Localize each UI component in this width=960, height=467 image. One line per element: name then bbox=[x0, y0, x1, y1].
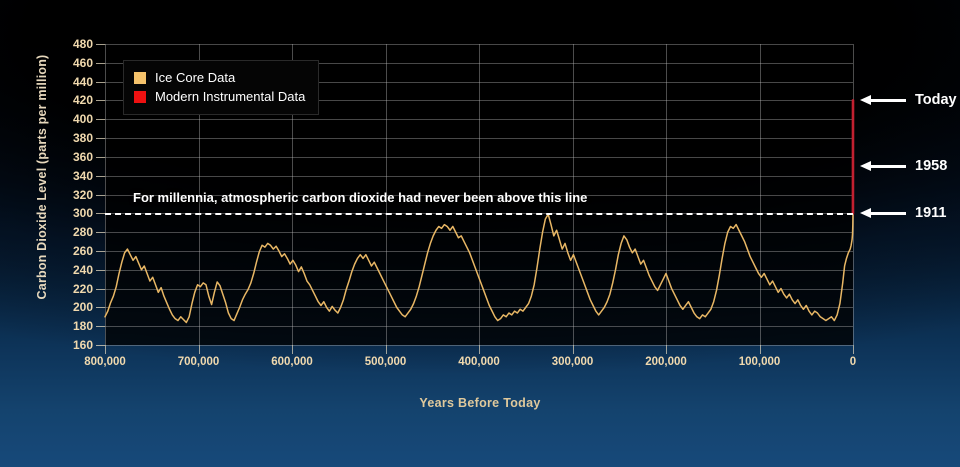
threshold-annotation-text: For millennia, atmospheric carbon dioxid… bbox=[133, 190, 587, 205]
y-tick-480: 480 bbox=[47, 37, 93, 51]
x-tickmark-3 bbox=[386, 345, 387, 354]
y-tickmark-200 bbox=[96, 307, 105, 308]
y-tickmark-160 bbox=[96, 345, 105, 346]
y-tick-200: 200 bbox=[47, 300, 93, 314]
y-tick-340: 340 bbox=[47, 169, 93, 183]
x-tickmark-8 bbox=[853, 345, 854, 354]
y-tickmark-320 bbox=[96, 195, 105, 196]
x-tick-5: 300,000 bbox=[552, 356, 594, 368]
x-tickmark-4 bbox=[479, 345, 480, 354]
y-tickmark-260 bbox=[96, 251, 105, 252]
y-tickmark-440 bbox=[96, 82, 105, 83]
y-tickmark-220 bbox=[96, 289, 105, 290]
x-tick-6: 200,000 bbox=[645, 356, 687, 368]
y-axis-tick-labels: 4804604404204003803603403203002802602402… bbox=[47, 0, 93, 467]
y-tick-360: 360 bbox=[47, 150, 93, 164]
callout-label-2: 1911 bbox=[915, 205, 946, 221]
x-axis-title: Years Before Today bbox=[0, 396, 960, 410]
arrow-left-icon-1 bbox=[860, 161, 906, 171]
y-tick-380: 380 bbox=[47, 131, 93, 145]
x-tickmark-7 bbox=[760, 345, 761, 354]
legend-swatch-icon-1 bbox=[134, 91, 146, 103]
x-tick-2: 600,000 bbox=[271, 356, 313, 368]
y-tick-440: 440 bbox=[47, 75, 93, 89]
y-tickmark-380 bbox=[96, 138, 105, 139]
callout-label-0: Today bbox=[915, 92, 957, 108]
x-tickmark-2 bbox=[292, 345, 293, 354]
x-tick-0: 800,000 bbox=[84, 356, 126, 368]
x-tickmark-5 bbox=[573, 345, 574, 354]
legend-swatch-icon-0 bbox=[134, 72, 146, 84]
callout-1958: 1958 bbox=[860, 158, 947, 174]
y-tick-260: 260 bbox=[47, 244, 93, 258]
threshold-line bbox=[105, 213, 853, 215]
x-tick-4: 400,000 bbox=[458, 356, 500, 368]
legend-label-0: Ice Core Data bbox=[155, 70, 235, 85]
chart-canvas: Carbon Dioxide Level (parts per million)… bbox=[0, 0, 960, 467]
y-tick-280: 280 bbox=[47, 225, 93, 239]
y-tickmark-400 bbox=[96, 119, 105, 120]
x-tick-7: 100,000 bbox=[739, 356, 781, 368]
y-tick-240: 240 bbox=[47, 263, 93, 277]
legend-item-0: Ice Core Data bbox=[134, 68, 305, 87]
y-tick-220: 220 bbox=[47, 282, 93, 296]
y-tick-400: 400 bbox=[47, 112, 93, 126]
callout-label-1: 1958 bbox=[915, 158, 947, 174]
callout-today: Today bbox=[860, 92, 957, 108]
x-tickmark-1 bbox=[199, 345, 200, 354]
y-tickmark-180 bbox=[96, 326, 105, 327]
y-tick-300: 300 bbox=[47, 206, 93, 220]
x-tick-8: 0 bbox=[850, 356, 856, 368]
legend-label-1: Modern Instrumental Data bbox=[155, 89, 305, 104]
y-tickmark-420 bbox=[96, 100, 105, 101]
y-tick-320: 320 bbox=[47, 188, 93, 202]
x-tick-3: 500,000 bbox=[365, 356, 407, 368]
y-tick-420: 420 bbox=[47, 93, 93, 107]
y-tickmark-280 bbox=[96, 232, 105, 233]
x-tick-1: 700,000 bbox=[178, 356, 220, 368]
y-tickmark-480 bbox=[96, 44, 105, 45]
y-tick-180: 180 bbox=[47, 319, 93, 333]
y-tick-460: 460 bbox=[47, 56, 93, 70]
y-tickmark-300 bbox=[96, 213, 105, 214]
series-line-0 bbox=[105, 213, 853, 322]
y-tick-160: 160 bbox=[47, 338, 93, 352]
x-tickmark-0 bbox=[105, 345, 106, 354]
y-tickmark-360 bbox=[96, 157, 105, 158]
y-tickmark-460 bbox=[96, 63, 105, 64]
legend-item-1: Modern Instrumental Data bbox=[134, 87, 305, 106]
arrow-left-icon-0 bbox=[860, 95, 906, 105]
arrow-left-icon-2 bbox=[860, 208, 906, 218]
chart-legend: Ice Core DataModern Instrumental Data bbox=[123, 60, 319, 115]
y-tickmark-340 bbox=[96, 176, 105, 177]
callout-1911: 1911 bbox=[860, 205, 946, 221]
y-tickmark-240 bbox=[96, 270, 105, 271]
x-tickmark-6 bbox=[666, 345, 667, 354]
